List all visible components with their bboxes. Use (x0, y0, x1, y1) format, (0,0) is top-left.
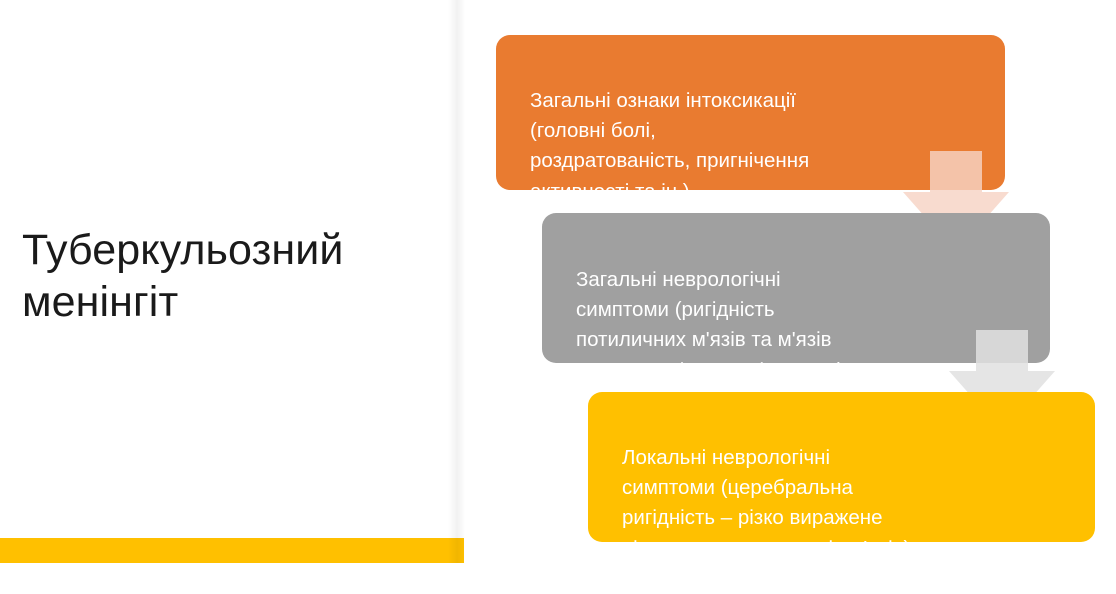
flow-step-general-neurological-label: Загальні неврологічні симптоми (ригідніс… (576, 265, 1030, 386)
page-title: Туберкульозний менінгіт (22, 224, 432, 329)
flow-step-intoxication-label: Загальні ознаки інтоксикації (головні бо… (530, 86, 985, 207)
flow-step-intoxication: Загальні ознаки інтоксикації (головні бо… (496, 35, 1005, 190)
title-pane: Туберкульозний менінгіт (0, 0, 464, 563)
flow-step-local-neurological-label: Локальні неврологічні симптоми (церебрал… (622, 443, 1075, 564)
bottom-accent-bar (0, 538, 464, 563)
flow-step-local-neurological: Локальні неврологічні симптоми (церебрал… (588, 392, 1095, 542)
flow-step-general-neurological: Загальні неврологічні симптоми (ригідніс… (542, 213, 1050, 363)
